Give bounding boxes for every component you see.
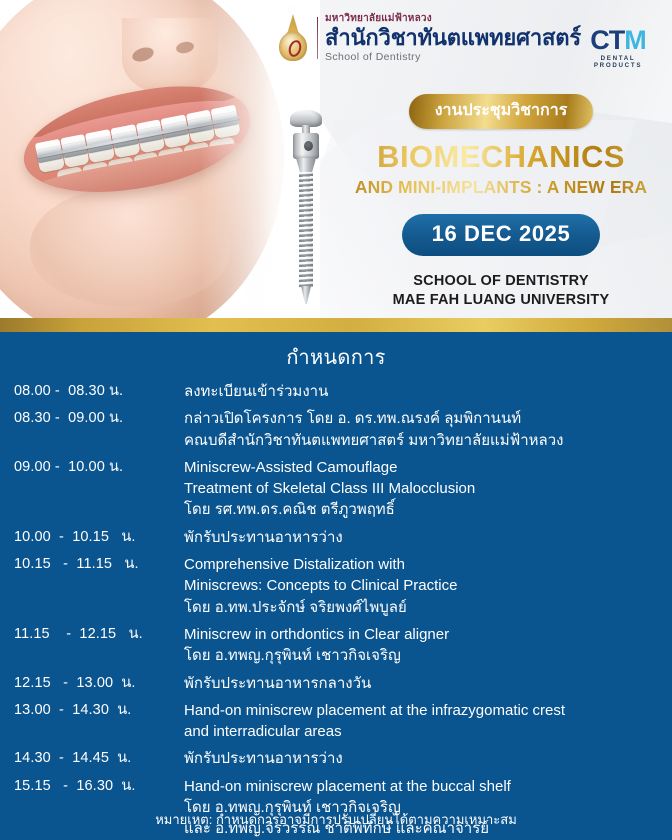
schedule-rows: 08.00 - 08.30 น.ลงทะเบียนเข้าร่วมงาน08.3… xyxy=(0,381,672,840)
schedule-section: กำหนดการ 08.00 - 08.30 น.ลงทะเบียนเข้าร่… xyxy=(0,332,672,840)
schedule-row: 14.30 - 14.45 น.พักรับประทานอาหารว่าง xyxy=(14,748,658,769)
schedule-row: 12.15 - 13.00 น.พักรับประทานอาหารกลางวัน xyxy=(14,673,658,694)
schedule-row-description: พักรับประทานอาหารว่าง xyxy=(184,748,658,769)
university-logo-lockup: มหาวิทยาลัยแม่ฟ้าหลวง สำนักวิชาทันตแพทยศ… xyxy=(276,14,581,63)
schedule-row: 11.15 - 12.15 น.Miniscrew in orthdontics… xyxy=(14,624,658,667)
event-title-sub: AND MINI-IMPLANTS : A NEW ERA xyxy=(330,177,672,198)
schedule-row: 15.15 - 16.30 น.Hand-on miniscrew placem… xyxy=(14,776,658,840)
headline-block: งานประชุมวิชาการ BIOMECHANICS AND MINI-I… xyxy=(330,94,672,311)
schedule-row-description: ลงทะเบียนเข้าร่วมงาน xyxy=(184,381,658,402)
schedule-row-time: 08.00 - 08.30 น. xyxy=(14,381,184,402)
school-name-en: School of Dentistry xyxy=(325,52,581,63)
ctm-tagline: DENTAL PRODUCTS xyxy=(576,55,660,69)
schedule-row-line: Miniscrews: Concepts to Clinical Practic… xyxy=(184,575,658,596)
schedule-row-description: Hand-on miniscrew placement at the infra… xyxy=(184,700,658,743)
logo-divider xyxy=(317,17,318,59)
schedule-row-time: 11.15 - 12.15 น. xyxy=(14,624,184,645)
schedule-row-description: Hand-on miniscrew placement at the bucca… xyxy=(184,776,658,840)
school-name-th: สำนักวิชาทันตแพทยศาสตร์ xyxy=(325,26,581,49)
hero-section: มหาวิทยาลัยแม่ฟ้าหลวง สำนักวิชาทันตแพทยศ… xyxy=(0,0,672,318)
schedule-note: หมายเหตุ: กำหนดการอาจมีการปรับเปลี่ยนได้… xyxy=(0,809,672,830)
schedule-row-time: 10.00 - 10.15 น. xyxy=(14,527,184,548)
schedule-row-description: Miniscrew-Assisted CamouflageTreatment o… xyxy=(184,457,658,521)
schedule-row: 10.00 - 10.15 น.พักรับประทานอาหารว่าง xyxy=(14,527,658,548)
schedule-row-line: โดย รศ.ทพ.ดร.คณิช ตรีภูวพฤทธิ์ xyxy=(184,499,658,520)
schedule-row-time: 15.15 - 16.30 น. xyxy=(14,776,184,797)
schedule-row-time: 08.30 - 09.00 น. xyxy=(14,408,184,429)
event-title-main: BIOMECHANICS xyxy=(330,141,672,174)
event-date-badge: 16 DEC 2025 xyxy=(402,214,601,256)
venue-line-2: MAE FAH LUANG UNIVERSITY xyxy=(330,291,672,311)
schedule-row-time: 09.00 - 10.00 น. xyxy=(14,457,184,478)
schedule-row-line: พักรับประทานอาหารว่าง xyxy=(184,748,658,769)
ctm-sponsor-logo: C T M DENTAL PRODUCTS xyxy=(576,26,660,69)
schedule-row-description: พักรับประทานอาหารกลางวัน xyxy=(184,673,658,694)
schedule-row-time: 12.15 - 13.00 น. xyxy=(14,673,184,694)
schedule-row-line: กล่าวเปิดโครงการ โดย อ. ดร.ทพ.ณรงค์ ลุมพ… xyxy=(184,408,658,429)
event-type-badge: งานประชุมวิชาการ xyxy=(409,94,594,129)
ctm-letter-t: T xyxy=(609,29,625,52)
ctm-wordmark: C T M xyxy=(576,26,660,52)
university-name-th: มหาวิทยาลัยแม่ฟ้าหลวง xyxy=(325,14,581,24)
logo-text-block: มหาวิทยาลัยแม่ฟ้าหลวง สำนักวิชาทันตแพทยศ… xyxy=(325,14,581,63)
screw-threaded-shaft xyxy=(299,172,313,288)
schedule-row-line: Hand-on miniscrew placement at the infra… xyxy=(184,700,658,721)
schedule-row-line: พักรับประทานอาหารว่าง xyxy=(184,527,658,548)
gold-divider-band xyxy=(0,318,672,332)
schedule-row-description: พักรับประทานอาหารว่าง xyxy=(184,527,658,548)
ctm-letter-m: M xyxy=(624,29,646,52)
schedule-title: กำหนดการ xyxy=(0,332,672,373)
schedule-row-time: 14.30 - 14.45 น. xyxy=(14,748,184,769)
schedule-row-line: Miniscrew in orthdontics in Clear aligne… xyxy=(184,624,658,645)
mfu-seal-icon xyxy=(276,14,310,62)
ctm-letter-c: C xyxy=(590,29,609,52)
schedule-row-line: Hand-on miniscrew placement at the bucca… xyxy=(184,776,658,797)
schedule-row-time: 13.00 - 14.30 น. xyxy=(14,700,184,721)
orthodontic-miniscrew-implant xyxy=(286,110,326,306)
schedule-row: 13.00 - 14.30 น.Hand-on miniscrew placem… xyxy=(14,700,658,743)
schedule-row-description: กล่าวเปิดโครงการ โดย อ. ดร.ทพ.ณรงค์ ลุมพ… xyxy=(184,408,658,451)
schedule-row-line: คณบดีสำนักวิชาทันตแพทยศาสตร์ มหาวิทยาลัย… xyxy=(184,430,658,451)
schedule-row-line: Comprehensive Distalization with xyxy=(184,554,658,575)
venue-line-1: SCHOOL OF DENTISTRY xyxy=(330,272,672,292)
schedule-row: 09.00 - 10.00 น.Miniscrew-Assisted Camou… xyxy=(14,457,658,521)
smiling-woman-with-braces-photo xyxy=(0,0,320,318)
conference-poster: มหาวิทยาลัยแม่ฟ้าหลวง สำนักวิชาทันตแพทยศ… xyxy=(0,0,672,840)
schedule-row-line: พักรับประทานอาหารกลางวัน xyxy=(184,673,658,694)
schedule-row-description: Miniscrew in orthdontics in Clear aligne… xyxy=(184,624,658,667)
schedule-row-line: Treatment of Skeletal Class III Malocclu… xyxy=(184,478,658,499)
screw-hole xyxy=(304,141,313,151)
schedule-row-time: 10.15 - 11.15 น. xyxy=(14,554,184,575)
schedule-row-line: ลงทะเบียนเข้าร่วมงาน xyxy=(184,381,658,402)
schedule-row-line: Miniscrew-Assisted Camouflage xyxy=(184,457,658,478)
schedule-row-line: โดย อ.ทพ.ประจักษ์ จริยพงศ์ไพบูลย์ xyxy=(184,597,658,618)
schedule-row-line: and interradicular areas xyxy=(184,721,658,742)
event-venue: SCHOOL OF DENTISTRY MAE FAH LUANG UNIVER… xyxy=(330,272,672,311)
schedule-row: 08.30 - 09.00 น.กล่าวเปิดโครงการ โดย อ. … xyxy=(14,408,658,451)
schedule-row: 08.00 - 08.30 น.ลงทะเบียนเข้าร่วมงาน xyxy=(14,381,658,402)
screw-tip xyxy=(301,286,311,304)
schedule-row: 10.15 - 11.15 น.Comprehensive Distalizat… xyxy=(14,554,658,618)
schedule-row-line: โดย อ.ทพญ.กุรุพินท์ เชาวกิจเจริญ xyxy=(184,645,658,666)
schedule-row-description: Comprehensive Distalization withMiniscre… xyxy=(184,554,658,618)
